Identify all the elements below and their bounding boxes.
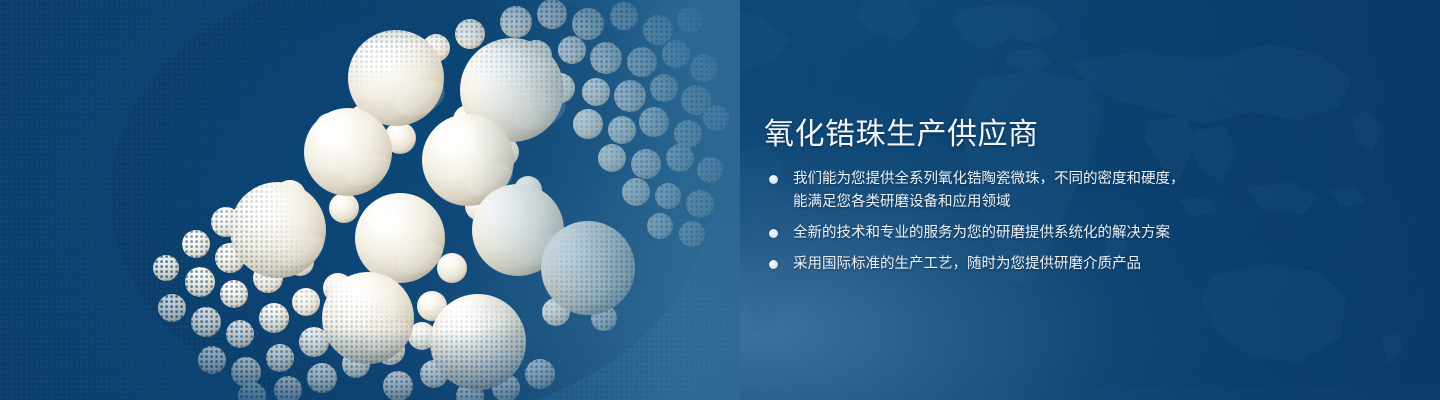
bullet-dot-icon [769,175,778,184]
bullet-item: 全新的技术和专业的服务为您的研磨提供系统化的解决方案 [766,222,1376,245]
banner-headline: 氧化锆珠生产供应商 [764,109,1039,153]
bullet-line: 我们能为您提供全系列氧化锆陶瓷微珠，不同的密度和硬度， [793,168,1376,191]
bullet-dot-icon [769,260,778,269]
bullet-line: 能满足您各类研磨设备和应用领域 [793,191,1376,214]
bullet-line: 全新的技术和专业的服务为您的研磨提供系统化的解决方案 [793,222,1376,245]
product-photo-beads [0,0,740,400]
hero-banner: 氧化锆珠生产供应商 我们能为您提供全系列氧化锆陶瓷微珠，不同的密度和硬度， 能满… [0,0,1440,400]
bullet-dot-icon [769,229,778,238]
banner-text-column: 氧化锆珠生产供应商 我们能为您提供全系列氧化锆陶瓷微珠，不同的密度和硬度， 能满… [764,0,1384,400]
bullet-item: 采用国际标准的生产工艺，随时为您提供研磨介质产品 [766,253,1376,276]
beads-cluster-illustration [0,0,740,400]
bullet-item: 我们能为您提供全系列氧化锆陶瓷微珠，不同的密度和硬度， 能满足您各类研磨设备和应… [766,168,1376,214]
banner-bullet-list: 我们能为您提供全系列氧化锆陶瓷微珠，不同的密度和硬度， 能满足您各类研磨设备和应… [766,168,1376,276]
bullet-line: 采用国际标准的生产工艺，随时为您提供研磨介质产品 [793,253,1376,276]
